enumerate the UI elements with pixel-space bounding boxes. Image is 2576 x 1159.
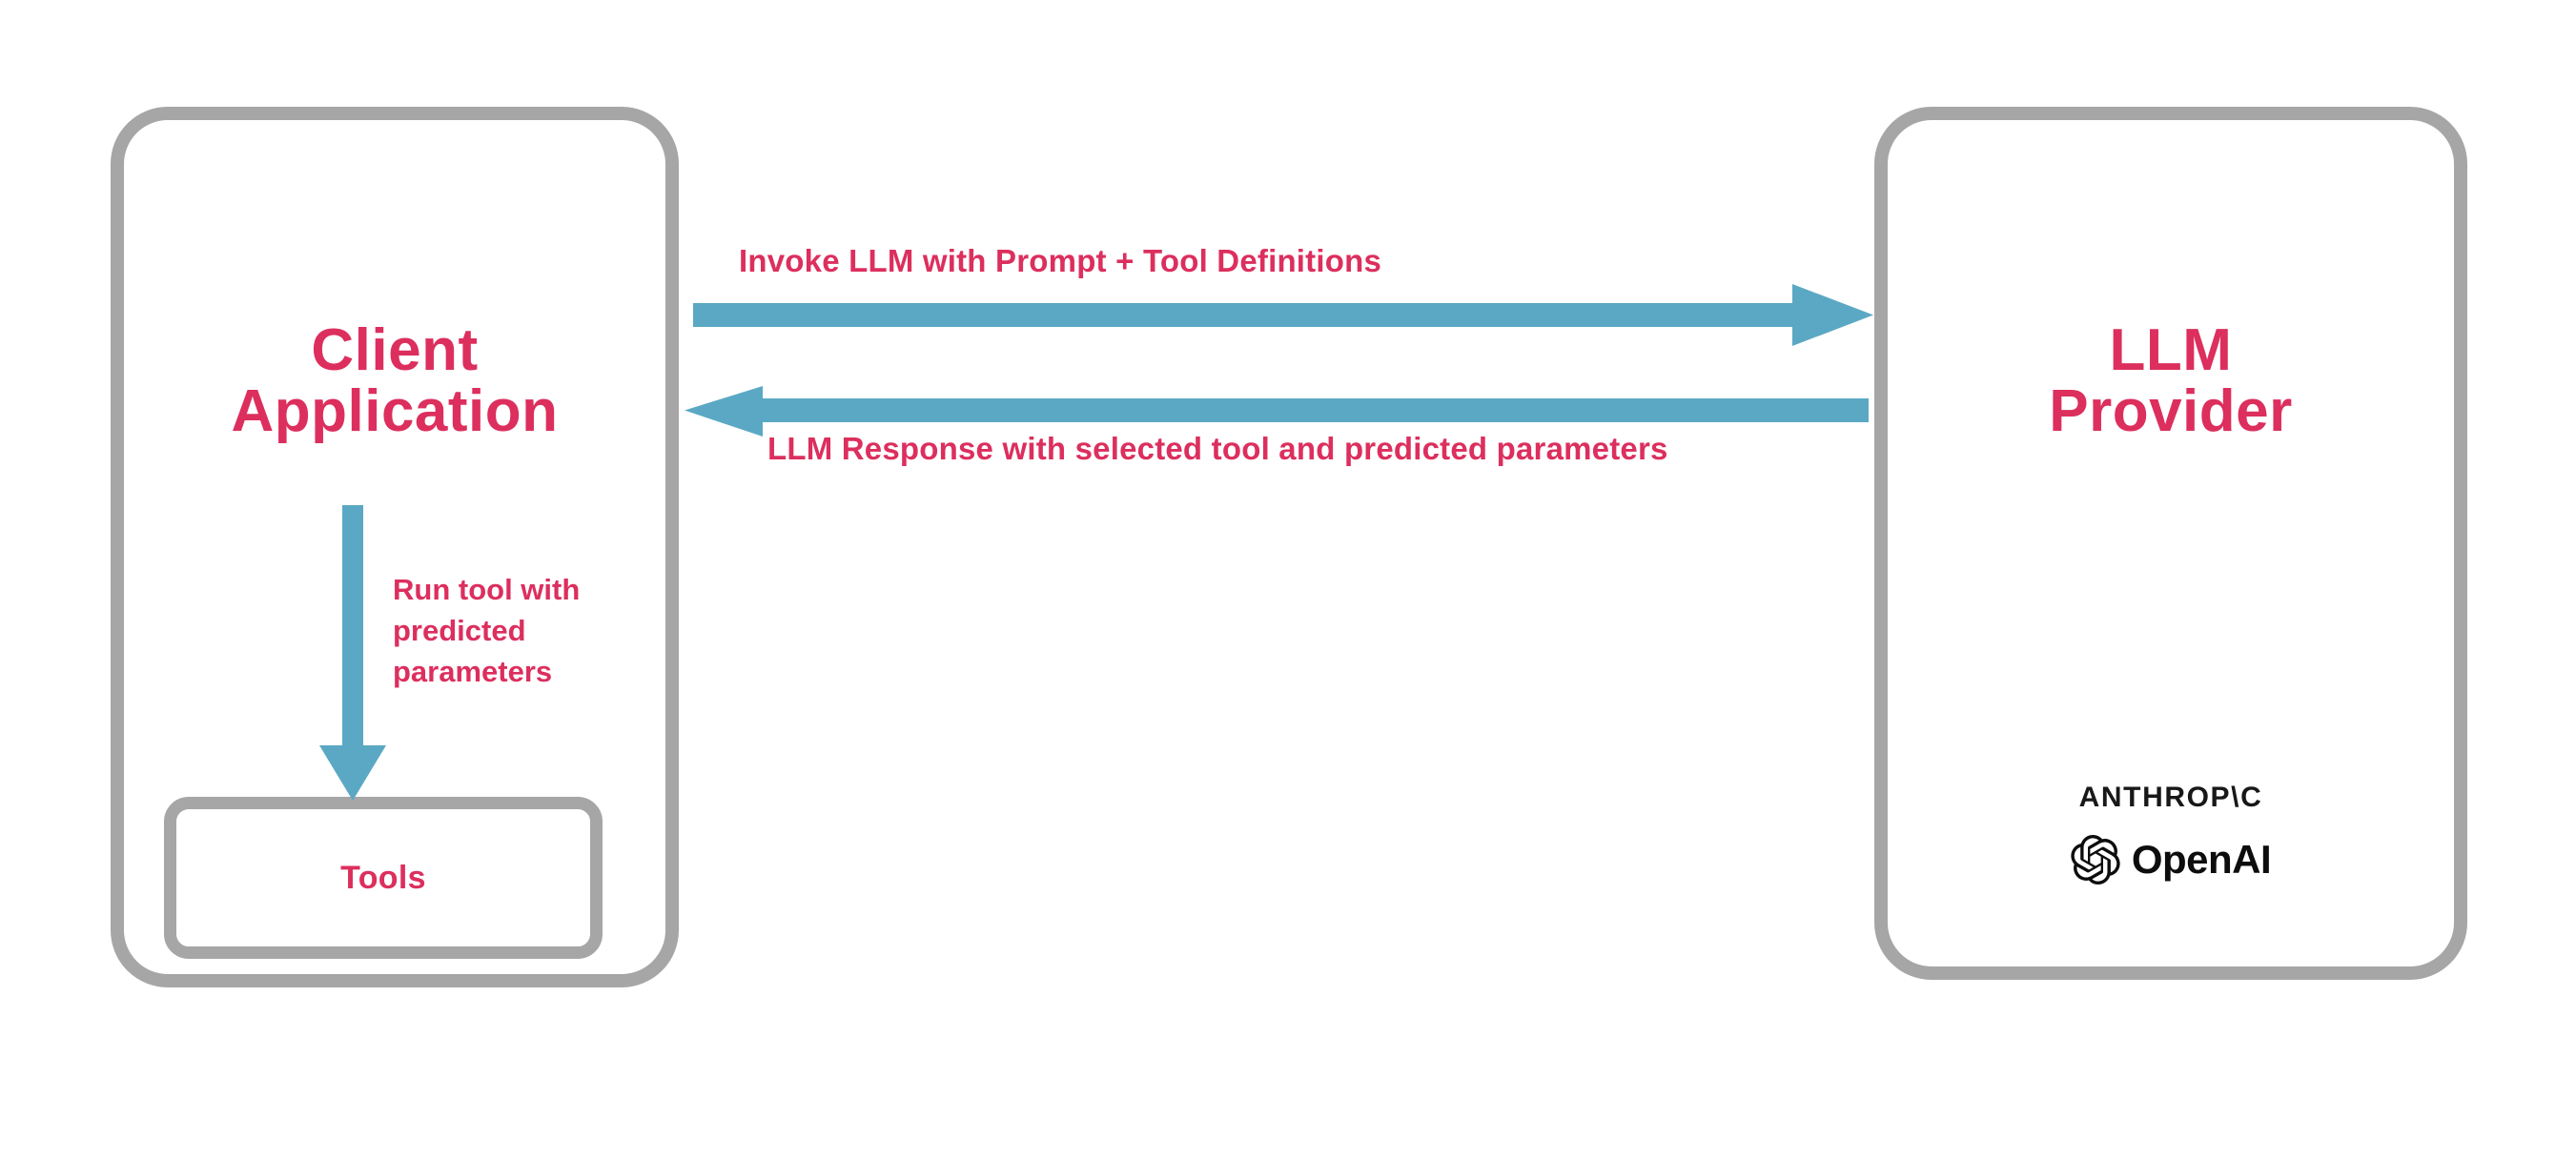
tools-label: Tools bbox=[340, 860, 426, 897]
run-tool-arrow-label: Run tool with predicted parameters bbox=[393, 570, 650, 692]
vendor-logo-group: ANTHROP\C OpenAI bbox=[1874, 782, 2467, 884]
provider-title-line-1: LLM bbox=[1874, 320, 2467, 381]
invoke-arrow bbox=[693, 284, 1873, 346]
tools-box: Tools bbox=[164, 797, 603, 959]
response-arrow bbox=[685, 386, 1869, 437]
llm-provider-title: LLM Provider bbox=[1874, 320, 2467, 443]
openai-wordmark: OpenAI bbox=[2132, 837, 2271, 883]
client-title-line-1: Client bbox=[111, 320, 679, 381]
anthropic-logo: ANTHROP\C bbox=[2079, 782, 2263, 814]
invoke-arrow-label: Invoke LLM with Prompt + Tool Definition… bbox=[739, 243, 1381, 279]
client-title-line-2: Application bbox=[111, 381, 679, 442]
provider-title-line-2: Provider bbox=[1874, 381, 2467, 442]
openai-logo: OpenAI bbox=[2071, 835, 2271, 884]
response-arrow-label: LLM Response with selected tool and pred… bbox=[767, 431, 1668, 467]
client-application-title: Client Application bbox=[111, 320, 679, 443]
openai-mark-icon bbox=[2071, 835, 2120, 884]
diagram-canvas: Client Application Tools LLM Provider AN… bbox=[0, 0, 2576, 1159]
